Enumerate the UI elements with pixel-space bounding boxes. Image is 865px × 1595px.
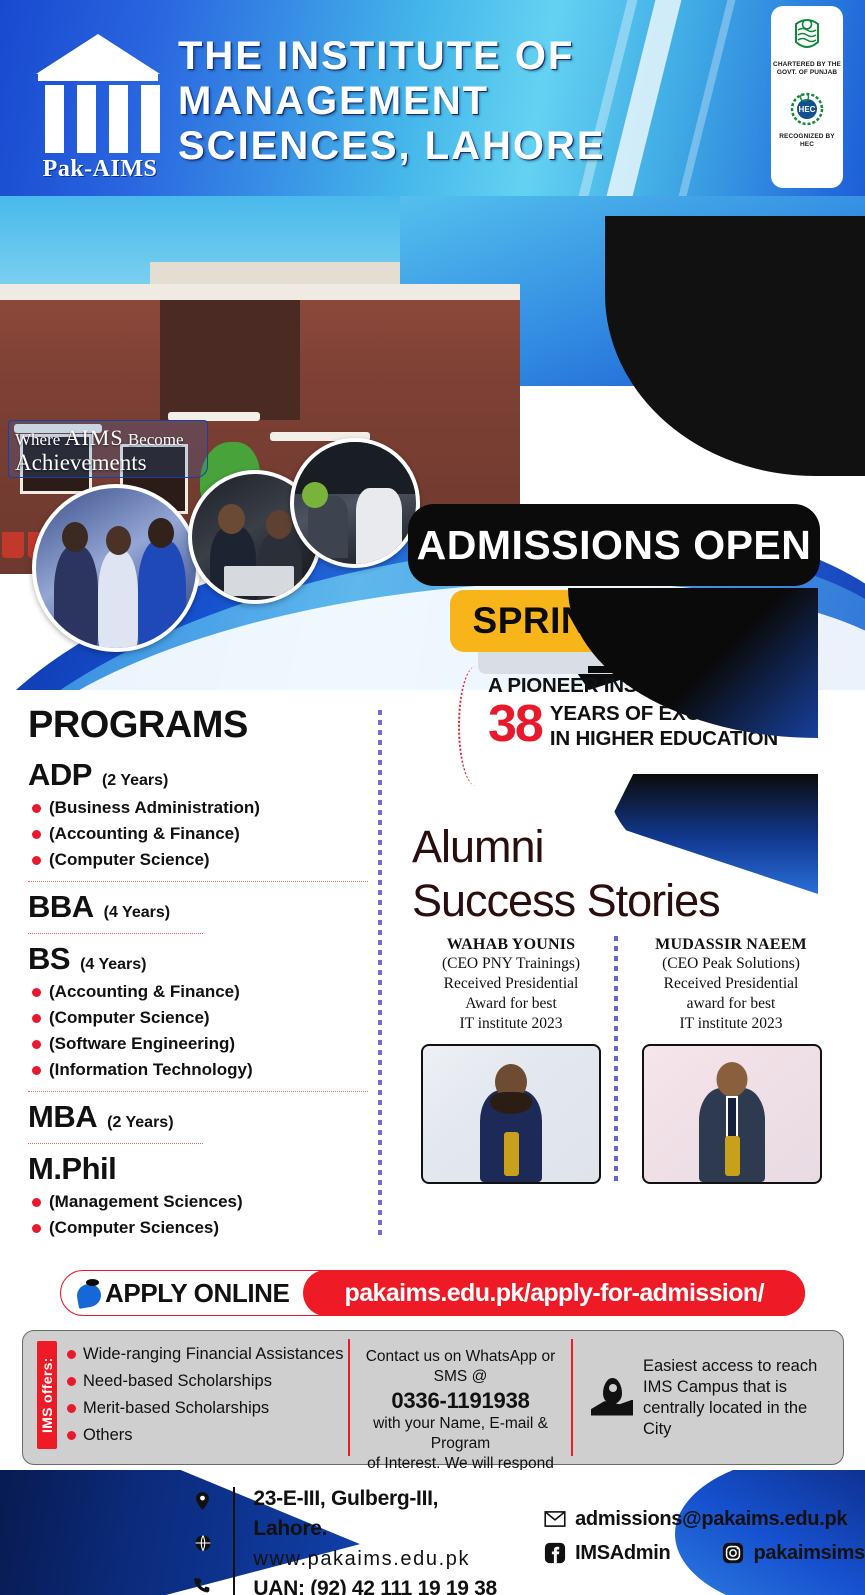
accreditation-caption-punjab: CHARTERED BY THE GOVT. OF PUNJAB [773, 61, 841, 77]
bullet-dot-icon [32, 804, 41, 813]
bullet-dot-icon [32, 1066, 41, 1075]
offer-label: Wide-ranging Financial Assistances [83, 1341, 343, 1368]
program-duration: (2 Years) [107, 1114, 173, 1132]
accreditation-panel: CHARTERED BY THE GOVT. OF PUNJAB HEC REC… [771, 6, 843, 188]
excellence-years-number: 38 [488, 700, 542, 748]
location-pin-icon [190, 1488, 215, 1514]
bullet-dot-icon [32, 830, 41, 839]
program-duration: (4 Years) [104, 904, 170, 922]
globe-icon [190, 1530, 215, 1556]
program-majors-bs: (Accounting & Finance) (Computer Science… [32, 979, 368, 1083]
bullet-dot-icon [32, 988, 41, 997]
alumni-detail-1: Received Presidential [642, 974, 820, 994]
location-line-1: Easiest access to reach [643, 1356, 829, 1377]
title-line-1: THE INSTITUTE OF [178, 34, 698, 79]
footer-social-row: IMSAdmin pakaimsims [544, 1536, 865, 1570]
major-label: (Computer Science) [49, 847, 210, 873]
location-line-3: centrally located in the City [643, 1398, 829, 1440]
tagline-where: Where [15, 430, 65, 449]
wahab-younis-award-photo [421, 1044, 601, 1184]
logo-wordmark: Pak-AIMS [26, 156, 174, 183]
programs-heading: PROGRAMS [28, 704, 368, 747]
bullet-dot-icon [67, 1350, 76, 1359]
classical-building-icon: Pak-AIMS [26, 32, 166, 172]
ims-offers-tag: IMS offers: [37, 1341, 57, 1449]
bullet-dot-icon [32, 1224, 41, 1233]
poster-footer: 23-E-III, Gulberg-III, Lahore. www.pakai… [0, 1470, 865, 1595]
major-label: (Computer Science) [49, 1005, 210, 1031]
offers-panel: IMS offers: Wide-ranging Financial Assis… [22, 1330, 844, 1465]
major-label: (Accounting & Finance) [49, 979, 240, 1005]
contact-number[interactable]: 0336-1191938 [360, 1387, 561, 1414]
tagline-achievements: Achievements [15, 450, 201, 476]
section-divider [28, 1091, 368, 1092]
program-mphil: M.Phil [28, 1151, 368, 1187]
bullet-dot-icon [32, 1198, 41, 1207]
poster-header: Pak-AIMS THE INSTITUTE OF MANAGEMENT SCI… [0, 0, 865, 196]
contact-detail-1: with your Name, E-mail & Program [360, 1414, 561, 1454]
footer-social-block: admissions@pakaims.edu.pk IMSAdmin [544, 1484, 865, 1595]
water-drop-icon [75, 1279, 103, 1307]
bullet-dot-icon [67, 1431, 76, 1440]
bullet-dot-icon [32, 1040, 41, 1049]
admissions-open-banner: ADMISSIONS OPEN [408, 504, 820, 586]
footer-address: 23-E-III, Gulberg-III, Lahore. [253, 1484, 512, 1544]
footer-website[interactable]: www.pakaims.edu.pk [253, 1544, 512, 1574]
admissions-poster: Pak-AIMS THE INSTITUTE OF MANAGEMENT SCI… [0, 0, 865, 1595]
major-label: (Management Sciences) [49, 1189, 243, 1215]
dotted-arc-decoration [458, 666, 494, 786]
footer-facebook: IMSAdmin [575, 1536, 670, 1570]
alumni-heading: Alumni Success Stories [412, 820, 832, 928]
instagram-icon[interactable] [722, 1542, 744, 1564]
ims-offers-block: IMS offers: Wide-ranging Financial Assis… [23, 1331, 348, 1464]
offer-label: Need-based Scholarships [83, 1368, 272, 1395]
offer-label: Others [83, 1422, 133, 1449]
list-item: (Accounting & Finance) [32, 979, 368, 1005]
alumni-detail-1: Received Presidential [412, 974, 610, 994]
bullet-dot-icon [67, 1404, 76, 1413]
list-item: Merit-based Scholarships [67, 1395, 343, 1422]
alumni-detail-3: IT institute 2023 [412, 1014, 610, 1034]
program-bs: BS (4 Years) [28, 941, 368, 977]
list-item: (Information Technology) [32, 1057, 368, 1083]
list-item: (Management Sciences) [32, 1189, 368, 1215]
program-mba: MBA (2 Years) [28, 1099, 368, 1135]
excellence-block: A PIONEER INSTITUTION WITH 38 YEARS OF E… [488, 674, 818, 751]
program-duration: (4 Years) [80, 956, 146, 974]
bullet-dot-icon [32, 856, 41, 865]
apply-url-button[interactable]: pakaims.edu.pk/apply-for-admission/ [303, 1270, 805, 1316]
alumni-role: (CEO PNY Trainings) [412, 954, 610, 974]
major-label: (Information Technology) [49, 1057, 253, 1083]
alumni-card-mudassir: MUDASSIR NAEEM (CEO Peak Solutions) Rece… [622, 936, 820, 1184]
title-line-3: SCIENCES, LAHORE [178, 124, 698, 169]
list-item: (Accounting & Finance) [32, 821, 368, 847]
alumni-section: Alumni Success Stories WAHAB YOUNIS (CEO… [412, 820, 832, 1184]
students-group-photo [32, 484, 200, 652]
alumni-card-wahab: WAHAB YOUNIS (CEO PNY Trainings) Receive… [412, 936, 610, 1184]
list-item: (Computer Science) [32, 1005, 368, 1031]
location-block: Easiest access to reach IMS Campus that … [573, 1331, 843, 1464]
offer-label: Merit-based Scholarships [83, 1395, 269, 1422]
list-item: (Computer Science) [32, 847, 368, 873]
programs-section: PROGRAMS ADP (2 Years) (Business Adminis… [28, 704, 368, 1241]
alumni-role: (CEO Peak Solutions) [642, 954, 820, 974]
alumni-column-divider [614, 936, 618, 1184]
list-item: (Computer Sciences) [32, 1215, 368, 1241]
alumni-detail-2: Award for best [412, 994, 610, 1014]
major-label: (Computer Sciences) [49, 1215, 219, 1241]
alumni-detail-3: IT institute 2023 [642, 1014, 820, 1034]
program-majors-mphil: (Management Sciences) (Computer Sciences… [32, 1189, 368, 1241]
dark-corner-shape [605, 216, 865, 476]
alumni-name: WAHAB YOUNIS [412, 936, 610, 954]
tagline-become: Become [124, 430, 184, 449]
program-majors-adp: (Business Administration) (Accounting & … [32, 795, 368, 873]
title-line-2: MANAGEMENT [178, 79, 698, 124]
program-code: M.Phil [28, 1151, 116, 1187]
apply-online-bar[interactable]: APPLY ONLINE pakaims.edu.pk/apply-for-ad… [60, 1270, 805, 1316]
bullet-dot-icon [67, 1377, 76, 1386]
program-duration: (2 Years) [102, 772, 168, 790]
footer-vertical-rule [233, 1487, 235, 1595]
ims-offers-list: Wide-ranging Financial Assistances Need-… [67, 1341, 343, 1464]
map-location-pin-icon [591, 1378, 633, 1418]
accreditation-caption-hec: RECOGNIZED BY HEC [773, 133, 841, 149]
alumni-heading-line-1: Alumni [412, 820, 832, 874]
program-code: BS [28, 941, 70, 977]
svg-text:HEC: HEC [799, 105, 816, 114]
contact-block: Contact us on WhatsApp or SMS @ 0336-119… [348, 1339, 573, 1456]
institute-title: THE INSTITUTE OF MANAGEMENT SCIENCES, LA… [178, 34, 698, 169]
bullet-dot-icon [32, 1014, 41, 1023]
main-content: PROGRAMS ADP (2 Years) (Business Adminis… [0, 690, 865, 1270]
list-item: Need-based Scholarships [67, 1368, 343, 1395]
section-divider [28, 881, 368, 882]
alumni-heading-line-2: Success Stories [412, 874, 832, 928]
footer-text-lines: 23-E-III, Gulberg-III, Lahore. www.pakai… [253, 1484, 512, 1595]
contact-intro: Contact us on WhatsApp or SMS @ [360, 1347, 561, 1387]
apply-online-label: APPLY ONLINE [105, 1278, 289, 1309]
punjab-govt-crest-icon [784, 12, 830, 58]
footer-email-row[interactable]: admissions@pakaims.edu.pk [544, 1502, 865, 1536]
phone-icon [190, 1572, 215, 1595]
footer-icon-column [190, 1484, 215, 1595]
major-label: (Software Engineering) [49, 1031, 235, 1057]
list-item: (Business Administration) [32, 795, 368, 821]
section-divider [28, 1143, 203, 1144]
section-divider [28, 933, 203, 934]
program-code: MBA [28, 1099, 97, 1135]
admissions-open-label: ADMISSIONS OPEN [417, 522, 812, 569]
program-code: ADP [28, 757, 92, 793]
tagline-box: Where AIMS Become Achievements [8, 420, 208, 478]
alumni-name: MUDASSIR NAEEM [642, 936, 820, 954]
footer-email: admissions@pakaims.edu.pk [575, 1502, 847, 1536]
vertical-dotted-divider [378, 710, 382, 1240]
program-adp: ADP (2 Years) [28, 757, 368, 793]
mudassir-naeem-award-photo [642, 1044, 822, 1184]
footer-instagram: pakaimsims [753, 1536, 865, 1570]
program-code: BBA [28, 889, 94, 925]
location-line-2: IMS Campus that is [643, 1377, 829, 1398]
tagline-aims: AIMS [65, 425, 124, 450]
alumni-detail-2: award for best [642, 994, 820, 1014]
list-item: (Software Engineering) [32, 1031, 368, 1057]
major-label: (Business Administration) [49, 795, 260, 821]
list-item: Wide-ranging Financial Assistances [67, 1341, 343, 1368]
facebook-icon[interactable] [544, 1542, 566, 1564]
hec-logo-icon: HEC [784, 84, 830, 130]
program-bba: BBA (4 Years) [28, 889, 368, 925]
envelope-icon [544, 1511, 566, 1527]
campus-library-photo [290, 438, 420, 568]
major-label: (Accounting & Finance) [49, 821, 240, 847]
footer-contact-block: 23-E-III, Gulberg-III, Lahore. www.pakai… [190, 1484, 865, 1595]
footer-phone[interactable]: UAN: (92) 42 111 19 19 38 [253, 1574, 512, 1595]
list-item: Others [67, 1422, 343, 1449]
